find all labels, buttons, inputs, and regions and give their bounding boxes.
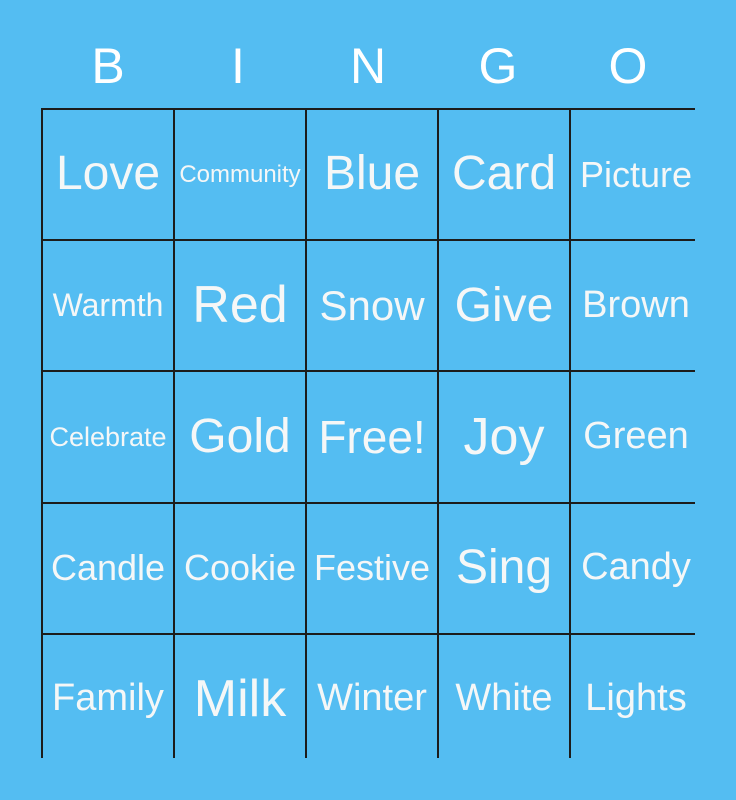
bingo-cell[interactable]: Brown — [571, 241, 701, 370]
bingo-cell[interactable]: Milk — [175, 635, 305, 764]
bingo-cell[interactable]: Red — [175, 241, 305, 370]
bingo-cell[interactable]: Sing — [439, 504, 569, 633]
bingo-cell-label: Joy — [464, 410, 545, 465]
bingo-cell-label: Milk — [194, 672, 286, 727]
bingo-cell[interactable]: Lights — [571, 635, 701, 764]
bingo-cell[interactable]: Festive — [307, 504, 437, 633]
bingo-cell-label: Snow — [319, 284, 424, 328]
bingo-cell-label: Sing — [456, 543, 552, 593]
bingo-cell[interactable]: Picture — [571, 110, 701, 239]
bingo-cell[interactable]: Family — [43, 635, 173, 764]
bingo-cell[interactable]: White — [439, 635, 569, 764]
bingo-cell-label: Candy — [581, 548, 691, 588]
bingo-cell-label: Warmth — [53, 289, 164, 323]
bingo-cell[interactable]: Card — [439, 110, 569, 239]
header-letter-b: B — [43, 30, 173, 102]
header-letter-o: O — [563, 30, 693, 102]
bingo-cell-label: Gold — [189, 412, 290, 462]
bingo-cell[interactable]: Green — [571, 372, 701, 501]
bingo-grid: LoveCommunityBlueCardPictureWarmthRedSno… — [41, 108, 695, 758]
bingo-cell[interactable]: Joy — [439, 372, 569, 501]
bingo-cell[interactable]: Blue — [307, 110, 437, 239]
bingo-cell[interactable]: Cookie — [175, 504, 305, 633]
bingo-cell[interactable]: Candy — [571, 504, 701, 633]
bingo-cell-label: White — [455, 679, 552, 719]
bingo-card: B I N G O LoveCommunityBlueCardPictureWa… — [0, 0, 736, 800]
bingo-cell[interactable]: Gold — [175, 372, 305, 501]
bingo-cell-label: Cookie — [184, 549, 296, 587]
header-letter-i: I — [173, 30, 303, 102]
header-letter-g: G — [433, 30, 563, 102]
bingo-cell-label: Celebrate — [49, 423, 166, 451]
bingo-cell[interactable]: Free! — [307, 372, 437, 501]
bingo-cell[interactable]: Give — [439, 241, 569, 370]
bingo-cell[interactable]: Warmth — [43, 241, 173, 370]
bingo-cell-label: Picture — [580, 156, 692, 194]
bingo-cell-label: Festive — [314, 549, 430, 587]
bingo-cell-label: Red — [192, 278, 287, 333]
bingo-cell[interactable]: Love — [43, 110, 173, 239]
bingo-cell-label: Lights — [585, 679, 686, 719]
bingo-cell-label: Candle — [51, 549, 165, 587]
bingo-cell[interactable]: Candle — [43, 504, 173, 633]
bingo-cell-label: Blue — [324, 149, 420, 199]
bingo-cell-label: Community — [179, 162, 300, 187]
header-letter-n: N — [303, 30, 433, 102]
bingo-cell-label: Love — [56, 149, 160, 199]
bingo-cell-label: Green — [583, 417, 689, 457]
bingo-header: B I N G O — [43, 30, 693, 102]
bingo-cell[interactable]: Community — [175, 110, 305, 239]
bingo-cell-label: Free! — [318, 413, 425, 461]
bingo-cell[interactable]: Snow — [307, 241, 437, 370]
bingo-cell[interactable]: Winter — [307, 635, 437, 764]
bingo-cell[interactable]: Celebrate — [43, 372, 173, 501]
bingo-cell-label: Give — [455, 281, 554, 331]
bingo-cell-label: Brown — [582, 286, 690, 326]
bingo-cell-label: Family — [52, 679, 164, 719]
bingo-cell-label: Card — [452, 149, 556, 199]
bingo-cell-label: Winter — [317, 679, 427, 719]
